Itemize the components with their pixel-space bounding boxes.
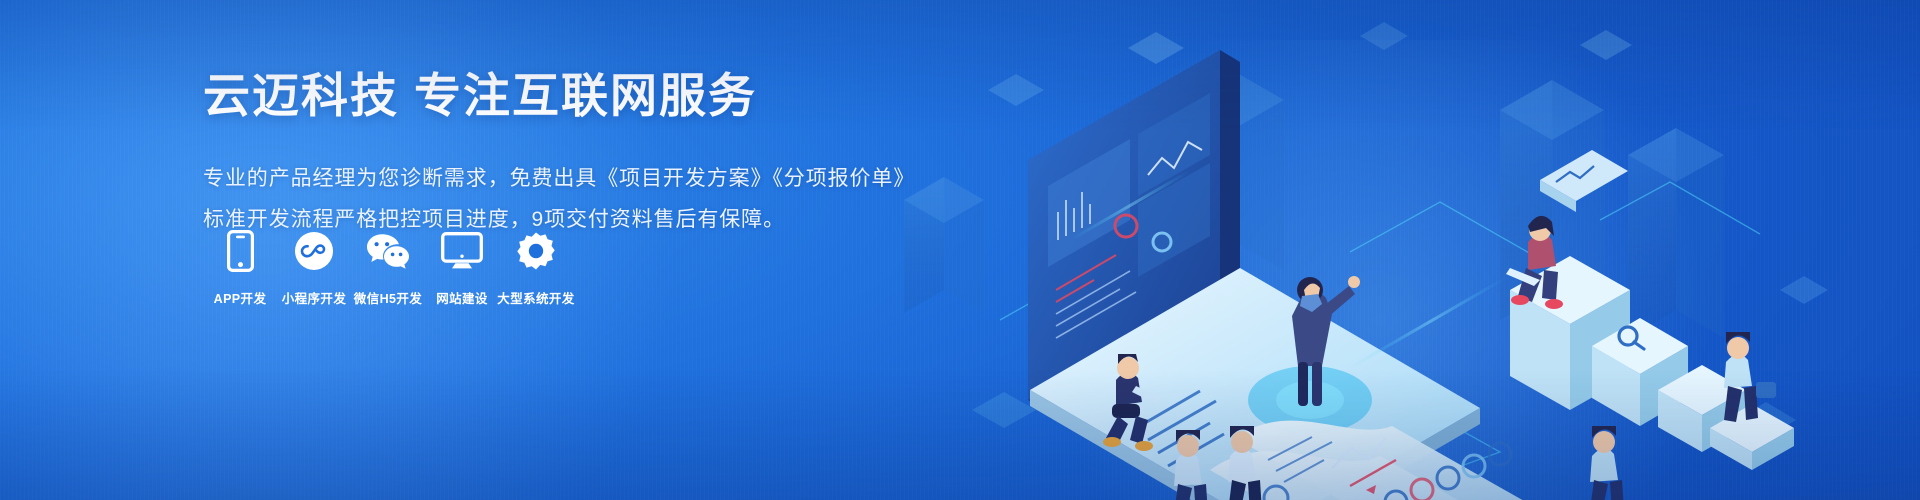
desktop-monitor-icon [441,228,483,274]
page-title: 云迈科技 专注互联网服务 [203,68,923,123]
service-label: APP开发 [214,288,267,307]
isometric-illustration [880,0,1920,500]
banner-copy: 云迈科技 专注互联网服务 专业的产品经理为您诊断需求，免费出具《项目开发方案》《… [203,68,923,241]
service-item-website[interactable]: 网站建设 [425,228,499,307]
marketing-banner: 云迈科技 专注互联网服务 专业的产品经理为您诊断需求，免费出具《项目开发方案》《… [0,0,1920,500]
person-bottom-right [1590,426,1624,500]
service-label: 微信H5开发 [354,288,422,307]
service-list: APP开发 小程序开发 微信 [203,228,573,307]
service-label: 大型系统开发 [497,288,574,307]
mobile-phone-icon [227,228,254,274]
service-label: 小程序开发 [282,288,347,307]
service-label: 网站建设 [436,288,488,307]
service-item-mini-program[interactable]: 小程序开发 [277,228,351,307]
subtitle-line-1: 专业的产品经理为您诊断需求，免费出具《项目开发方案》《分项报价单》 [203,159,923,200]
service-item-wechat-h5[interactable]: 微信H5开发 [351,228,425,307]
gear-icon [516,228,556,274]
wechat-icon [365,228,411,274]
service-item-app[interactable]: APP开发 [203,228,277,307]
service-item-large-system[interactable]: 大型系统开发 [499,228,573,307]
mini-program-icon [294,228,334,274]
